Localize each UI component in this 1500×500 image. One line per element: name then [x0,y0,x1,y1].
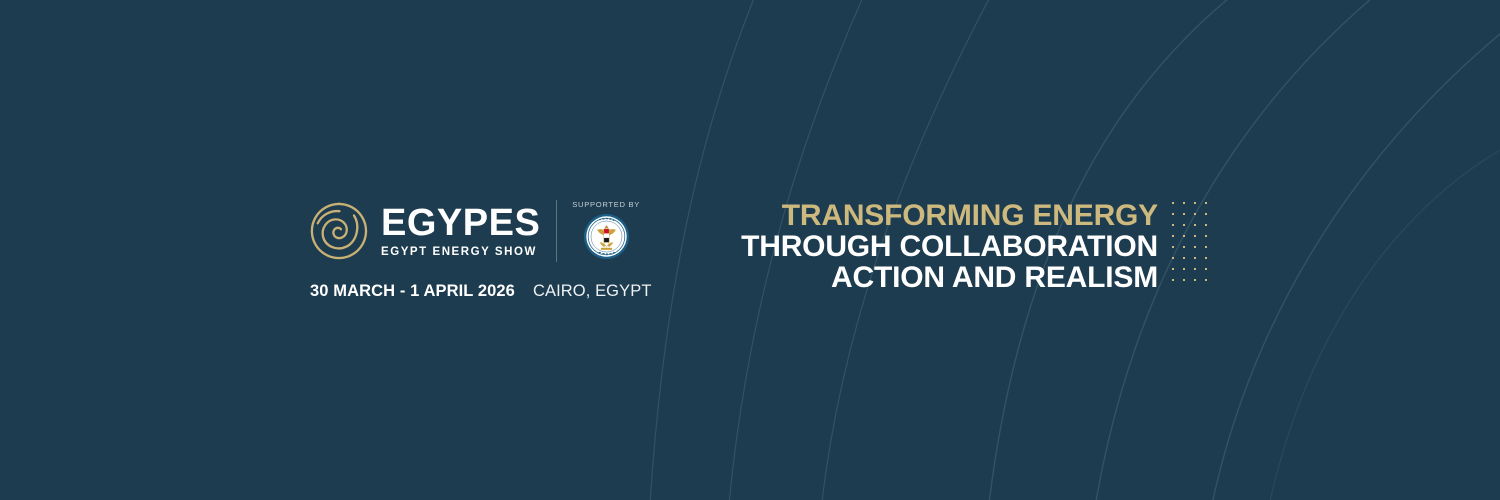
dateline: 30 MARCH - 1 APRIL 2026 CAIRO, EGYPT [310,282,600,301]
wordmark-title: EGYPES [381,204,540,242]
egypes-event-banner: EGYPES EGYPT ENERGY SHOW SUPPORTED BY [0,0,1500,500]
grid-dot [1194,257,1196,259]
grid-dot [1183,279,1185,281]
grid-dot [1205,235,1207,237]
lockup-divider [556,200,557,262]
tagline-line-3: ACTION AND REALISM [700,262,1158,293]
grid-dot [1205,257,1207,259]
wordmark-block: EGYPES EGYPT ENERGY SHOW [381,196,540,260]
grid-dot [1183,224,1185,226]
grid-dot [1194,235,1196,237]
grid-dot [1205,213,1207,215]
dot-grid-row [1172,202,1216,213]
dot-grid-row [1172,268,1216,279]
grid-dot [1172,246,1174,248]
wordmark-subtitle: EGYPT ENERGY SHOW [381,245,540,260]
supported-by-label: SUPPORTED BY [572,200,640,209]
tagline-line-1: TRANSFORMING ENERGY [700,200,1158,231]
grid-dot [1183,246,1185,248]
grid-dot [1194,279,1196,281]
grid-dot [1172,235,1174,237]
dot-grid-row [1172,279,1216,290]
grid-dot [1172,213,1174,215]
grid-dot [1194,202,1196,204]
grid-dot [1205,279,1207,281]
grid-dot [1194,213,1196,215]
grid-dot [1172,279,1174,281]
grid-dot [1183,202,1185,204]
grid-dot [1205,202,1207,204]
dot-grid-row [1172,257,1216,268]
grid-dot [1183,257,1185,259]
event-tagline: TRANSFORMING ENERGY THROUGH COLLABORATIO… [700,200,1158,293]
grid-dot [1194,268,1196,270]
logo-row: EGYPES EGYPT ENERGY SHOW SUPPORTED BY [310,196,600,268]
grid-dot [1205,246,1207,248]
egypes-spiral-mark [310,202,368,260]
grid-dot [1183,213,1185,215]
grid-dot [1194,224,1196,226]
dot-grid-row [1172,213,1216,224]
grid-dot [1172,268,1174,270]
grid-dot [1183,235,1185,237]
supporter-block: SUPPORTED BY [572,196,640,265]
dot-grid-row [1172,246,1216,257]
dot-grid-row [1172,224,1216,235]
dot-grid-row [1172,235,1216,246]
tagline-line-2: THROUGH COLLABORATION [700,231,1158,262]
grid-dot [1172,202,1174,204]
grid-dot [1183,268,1185,270]
grid-dot [1172,224,1174,226]
grid-dot [1205,224,1207,226]
grid-dot [1172,257,1174,259]
dot-grid-decoration [1172,202,1216,290]
grid-dot [1194,246,1196,248]
egypt-government-eagle-seal [583,213,630,260]
event-dates: 30 MARCH - 1 APRIL 2026 [310,282,515,301]
grid-dot [1205,268,1207,270]
event-location: CAIRO, EGYPT [533,282,652,301]
event-logo-lockup: EGYPES EGYPT ENERGY SHOW SUPPORTED BY [310,196,600,301]
